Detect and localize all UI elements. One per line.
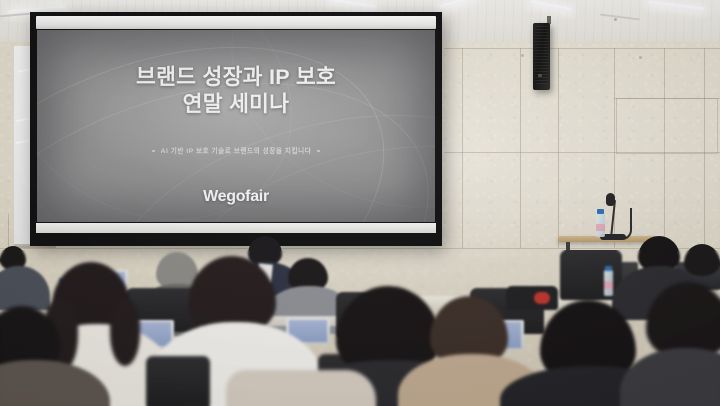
bag-red-accent bbox=[534, 292, 550, 304]
wall-access-panel bbox=[616, 98, 718, 154]
wall-seam-vertical-4 bbox=[614, 48, 615, 248]
wall-seam-vertical-1 bbox=[462, 48, 463, 248]
subtitle-dot-left bbox=[152, 150, 155, 153]
slide-title-line-1: 브랜드 성장과 IP 보호 bbox=[37, 64, 435, 91]
wall-bracket-dot-2 bbox=[639, 56, 642, 59]
projection-screen-housing bbox=[36, 16, 436, 29]
water-bottle-cap bbox=[597, 209, 604, 214]
wall-seam-vertical-2 bbox=[520, 48, 521, 248]
wall-seam-horizontal-1 bbox=[444, 48, 720, 49]
wall-bracket-dot-1 bbox=[521, 54, 524, 57]
microphone-head bbox=[606, 193, 615, 206]
coat-draped-chair bbox=[226, 370, 376, 406]
person-left-front-hair-strand-2 bbox=[110, 300, 140, 366]
wall-seam-vertical-7 bbox=[8, 214, 9, 248]
wall-seam-horizontal-3 bbox=[0, 248, 720, 249]
seminar-room-photo: 브랜드 성장과 IP 보호 연말 세미나 AI 기반 IP 보호 기술로 브랜드… bbox=[0, 0, 720, 406]
slide-title: 브랜드 성장과 IP 보호 연말 세미나 bbox=[37, 64, 435, 118]
projection-screen-bottom-bar bbox=[36, 223, 436, 233]
subtitle-dot-right bbox=[317, 150, 320, 153]
ceiling-sprinkler bbox=[614, 18, 617, 21]
slide-subtitle-text: AI 기반 IP 보호 기술로 브랜드의 성장을 지킵니다 bbox=[161, 148, 312, 155]
water-bottle-label bbox=[596, 224, 605, 231]
person-back-far-right-head bbox=[684, 244, 720, 276]
chair-back-front-1 bbox=[146, 356, 210, 406]
bag-dark bbox=[506, 286, 558, 310]
wall-seam-vertical-3 bbox=[558, 48, 559, 248]
slide-logo: Wegofair bbox=[37, 188, 435, 206]
slide-title-line-2: 연말 세미나 bbox=[37, 91, 435, 118]
speaker-logo-badge bbox=[538, 74, 542, 77]
water-bottle-2-label bbox=[604, 281, 613, 289]
water-bottle-2-cap bbox=[605, 266, 612, 271]
slide-subtitle: AI 기반 IP 보호 기술로 브랜드의 성장을 지킵니다 bbox=[37, 145, 435, 155]
